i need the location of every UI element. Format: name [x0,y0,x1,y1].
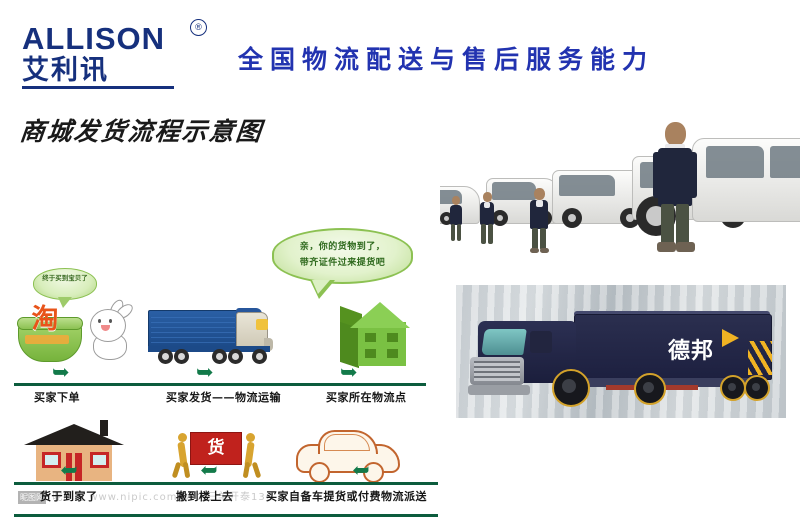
notice-speech-bubble: 亲，你的货物到了， 带齐证件过来提货吧 [272,228,413,284]
logo-brand-en: ALLISON [22,22,212,55]
staff-shoe [676,242,695,252]
staff-leg [481,224,486,244]
vehicle-wheel [562,208,582,228]
deppon-logo-text: 德邦 [668,333,714,365]
truck-wheel [174,349,189,364]
truck-grille [470,357,524,385]
staff-torso [450,205,462,225]
vehicle-window [559,175,615,196]
truck-wheel [720,375,746,401]
home-window [90,452,109,468]
truck-front-bumper [468,385,530,395]
company-logo: ALLISON ® 艾利讯 [22,22,212,88]
flow-label-ship-transport: 买家发货——物流运输 [166,389,281,405]
page-title: 全国物流配送与售后服务能力 [238,40,758,76]
staff-leg [532,228,538,250]
staff-leg [457,224,461,241]
staff-member [528,188,550,254]
truck-window [256,319,268,330]
staff-leg [676,204,689,246]
house-window [387,333,398,342]
home-window [42,452,61,468]
notice-bubble-line2: 带齐证件过来提货吧 [282,256,403,271]
rabbit-eye-right [109,319,112,323]
staff-member-foreground [652,122,696,256]
home-roof [24,424,124,445]
flow-line-row1 [14,383,426,386]
staff-member [478,192,496,248]
staff-collar [536,200,543,207]
vehicle-window [706,146,764,178]
photo-deppon-logistics-truck: 德邦 [456,285,786,418]
shipping-flow-diagram: 商城发货流程示意图 亲，你的货物到了， 带齐证件过来提货吧 终于买到宝贝了 淘 [0,100,440,430]
flow-label-self-pickup: 买家自备车提货或付费物流派送 [266,488,427,504]
flow-arrow-icon: ➥ [60,460,78,481]
staff-head [534,188,545,200]
flow-arrow-icon: ➥ [52,362,70,383]
mover-leg [172,462,182,479]
cabin-side-window [530,331,552,353]
flow-arrow-icon: ➥ [200,460,218,481]
registered-trademark-icon: ® [190,19,207,36]
taobao-character-icon: 淘 [27,303,63,337]
car-windshield [324,434,370,451]
staff-torso [658,148,692,206]
staff-leg [540,228,546,250]
buyer-bubble-text: 终于买到宝贝了 [38,274,92,284]
house-window [365,333,376,342]
staff-collar [484,202,490,208]
staff-head [452,196,460,205]
truck-wheel [158,349,173,364]
staff-arm [688,152,697,198]
rabbit-character-icon [84,303,136,361]
notice-bubble-line1: 亲，你的货物到了， [282,240,403,255]
mover-head-right [246,433,255,442]
truck-wheel [744,375,770,401]
diagram-title: 商城发货流程示意图 [18,112,265,148]
buyer-speech-bubble: 终于买到宝贝了 [33,268,97,300]
cabin-windshield [481,329,527,355]
vehicle-window [770,146,800,178]
truck-trailer [148,310,238,348]
staff-head [665,122,686,146]
house-roof-front [350,302,410,328]
staff-shoe [540,248,549,253]
flow-arrow-icon: ➥ [196,362,214,383]
logo-brand-cn: 艾利讯 [22,56,212,86]
flow-arrow-icon: ➥ [352,460,370,481]
staff-leg [661,204,674,246]
staff-arm [653,152,662,198]
flow-label-goods-home: 货于到家了 [40,488,98,504]
truck-wheel [212,349,227,364]
house-window [365,349,376,358]
staff-head [483,192,492,202]
logo-underline [22,86,174,89]
hazard-stripes [748,341,772,375]
flow-line-row2 [14,482,438,485]
private-car-icon [296,430,398,480]
house-front-wall [358,322,406,366]
presentation-slide: ALLISON ® 艾利讯 全国物流配送与售后服务能力 商城发货流程示意图 亲，… [0,0,800,450]
bubble-tail-inner [312,280,330,294]
staff-shoe [530,248,539,253]
staff-shoe [657,242,676,252]
flow-label-local-station: 买家所在物流点 [326,389,407,405]
trailer-ribs [151,317,235,345]
staff-leg [488,224,493,244]
flow-label-buyer-order: 买家下单 [34,389,80,405]
truck-wheel [634,373,666,405]
truck-wheel [252,349,267,364]
staff-member [448,196,464,246]
flow-arrow-icon: ➥ [340,362,358,383]
deppon-arrow-icon [722,329,739,347]
mover-leg [252,462,262,479]
mover-head-left [178,433,187,442]
shopping-basket-icon: 淘 [18,305,80,360]
house-window [387,349,398,358]
photo-service-vehicle-fleet [440,108,800,270]
staff-leg [451,224,455,241]
truck-wheel [228,349,243,364]
truck-wheel [552,369,590,407]
rabbit-eye-left [98,319,101,323]
flow-label-carry-upstairs: 搬到楼上去 [176,488,234,504]
car-wheel [309,462,330,483]
